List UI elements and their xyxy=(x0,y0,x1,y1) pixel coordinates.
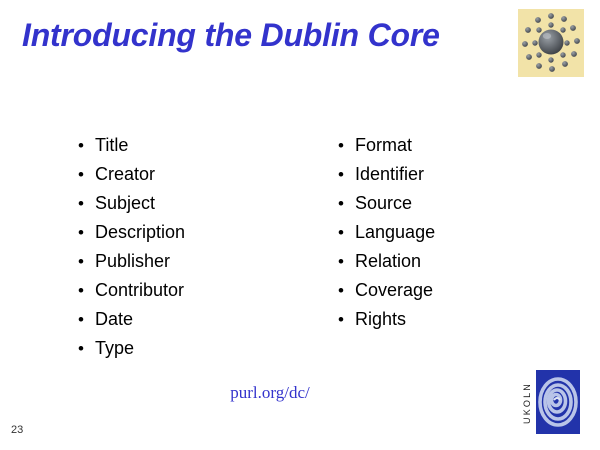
list-item: • Creator xyxy=(78,160,185,189)
purl-link[interactable]: purl.org/dc/ xyxy=(0,383,540,403)
bullet-icon: • xyxy=(338,189,355,218)
list-item-label: Title xyxy=(95,131,128,160)
list-item: • Relation xyxy=(338,247,435,276)
list-item-label: Language xyxy=(355,218,435,247)
list-item-label: Date xyxy=(95,305,133,334)
bullet-icon: • xyxy=(78,247,95,276)
list-item: • Subject xyxy=(78,189,185,218)
bullet-icon: • xyxy=(338,247,355,276)
bullet-icon: • xyxy=(78,218,95,247)
list-item: • Description xyxy=(78,218,185,247)
bullet-icon: • xyxy=(78,334,95,363)
list-item: • Date xyxy=(78,305,185,334)
list-item: • Contributor xyxy=(78,276,185,305)
bullet-icon: • xyxy=(78,131,95,160)
page-number: 23 xyxy=(11,424,23,436)
list-item-label: Coverage xyxy=(355,276,433,305)
list-item: • Rights xyxy=(338,305,435,334)
bullet-icon: • xyxy=(338,218,355,247)
list-item-label: Contributor xyxy=(95,276,184,305)
list-item: • Title xyxy=(78,131,185,160)
list-item-label: Format xyxy=(355,131,412,160)
ukoln-logo: UKOLN xyxy=(520,368,588,438)
page-title: Introducing the Dublin Core xyxy=(22,18,440,53)
list-item: • Publisher xyxy=(78,247,185,276)
list-item: • Source xyxy=(338,189,435,218)
slide-canvas: Introducing the Dublin Core xyxy=(0,0,600,450)
bullet-icon: • xyxy=(78,305,95,334)
list-item: • Format xyxy=(338,131,435,160)
list-item-label: Creator xyxy=(95,160,155,189)
list-item-label: Relation xyxy=(355,247,421,276)
list-item-label: Source xyxy=(355,189,412,218)
bullet-icon: • xyxy=(78,160,95,189)
list-item-label: Publisher xyxy=(95,247,170,276)
list-item: • Language xyxy=(338,218,435,247)
ukoln-wordmark-label: UKOLN xyxy=(522,382,532,424)
list-item: • Coverage xyxy=(338,276,435,305)
dublin-core-logo xyxy=(518,9,584,77)
list-item-label: Type xyxy=(95,334,134,363)
list-item-label: Rights xyxy=(355,305,406,334)
bullet-icon: • xyxy=(338,131,355,160)
bullet-icon: • xyxy=(338,276,355,305)
list-item-label: Description xyxy=(95,218,185,247)
bullet-icon: • xyxy=(338,305,355,334)
bullet-list-left: • Title • Creator • Subject • Descriptio… xyxy=(78,131,185,363)
bullet-list-right: • Format • Identifier • Source • Languag… xyxy=(338,131,435,334)
bullet-icon: • xyxy=(78,189,95,218)
bullet-icon: • xyxy=(78,276,95,305)
ukoln-wordmark: UKOLN xyxy=(520,374,534,432)
list-item: • Type xyxy=(78,334,185,363)
list-item: • Identifier xyxy=(338,160,435,189)
bullet-icon: • xyxy=(338,160,355,189)
list-item-label: Subject xyxy=(95,189,155,218)
ukoln-spiral-icon xyxy=(536,370,580,434)
list-item-label: Identifier xyxy=(355,160,424,189)
